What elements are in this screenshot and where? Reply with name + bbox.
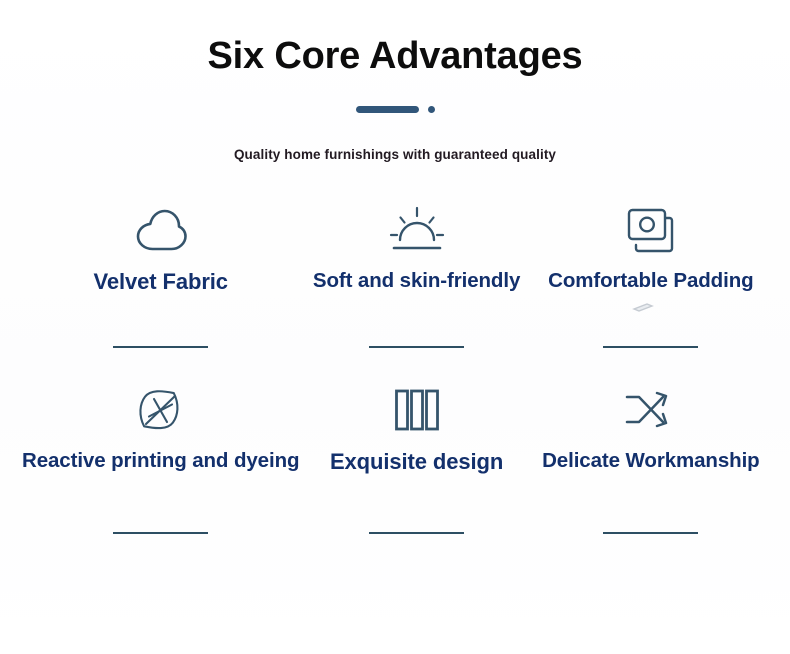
shuffle-arrows-icon [623,380,679,440]
advantage-card-velvet-fabric: Velvet Fabric [22,198,299,380]
advantage-card-comfortable-padding: Comfortable Padding [534,198,768,380]
page-title: Six Core Advantages [0,33,790,79]
three-bars-icon [392,380,442,440]
advantage-label: Soft and skin-friendly [313,269,520,293]
stacked-cushions-icon [622,198,680,260]
card-underline [369,532,464,534]
section-header: Six Core Advantages Quality home furnish… [0,0,790,162]
cloud-icon [132,198,190,260]
card-underline [113,532,208,534]
card-underline [369,346,464,348]
section-subtitle: Quality home furnishings with guaranteed… [0,147,790,162]
advantage-card-delicate-workmanship: Delicate Workmanship [534,380,768,562]
sunrise-icon [386,198,448,260]
advantage-card-reactive-printing-dyeing: Reactive printing and dyeing [22,380,299,562]
advantage-label: Comfortable Padding [548,269,753,293]
divider-dot-icon [428,106,435,113]
advantage-label: Reactive printing and dyeing [22,449,299,473]
card-underline [603,532,698,534]
advantage-label: Delicate Workmanship [542,449,760,473]
leaf-icon [135,380,187,440]
divider [0,103,790,115]
card-underline [603,346,698,348]
six-core-advantages-section: Six Core Advantages Quality home furnish… [0,0,790,654]
card-underline [113,346,208,348]
advantage-card-soft-skin-friendly: Soft and skin-friendly [299,198,533,380]
advantage-label: Velvet Fabric [93,269,227,295]
divider-bar-icon [356,106,419,113]
advantage-card-exquisite-design: Exquisite design [299,380,533,562]
advantages-grid: Velvet Fabric Soft and skin-friendly [0,198,790,562]
advantage-label: Exquisite design [330,449,503,475]
